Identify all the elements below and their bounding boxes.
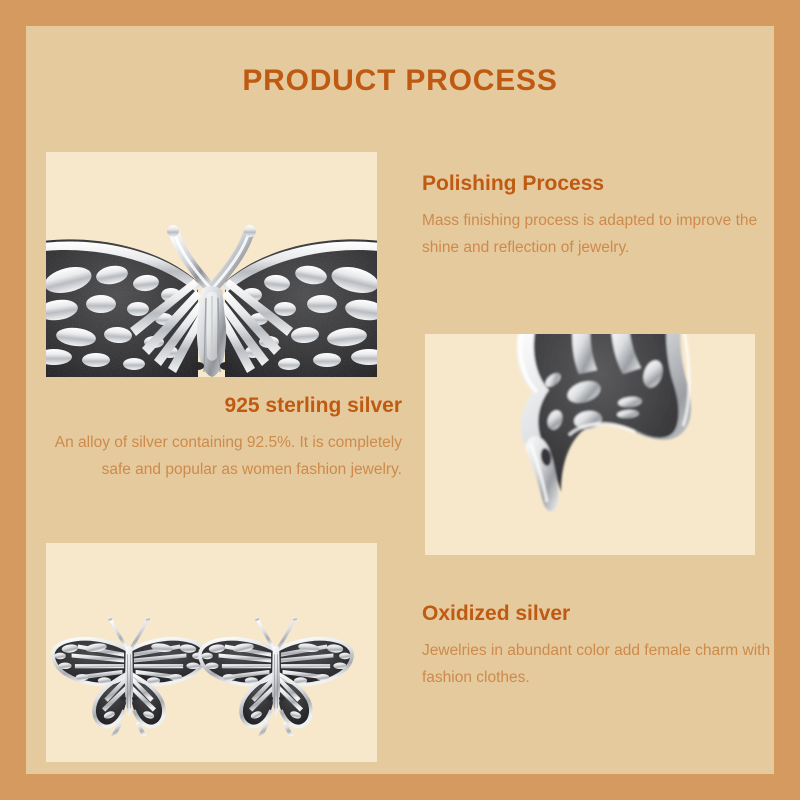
photo-butterfly-earring-pair — [46, 543, 377, 762]
section-sterling-heading-rest: sterling silver — [260, 394, 402, 417]
section-polishing: Polishing Process Mass finishing process… — [422, 172, 778, 261]
section-sterling-silver: 925 sterling silver An alloy of silver c… — [46, 394, 402, 483]
section-sterling-heading: 925 sterling silver — [46, 394, 402, 418]
section-polishing-body: Mass finishing process is adapted to imp… — [422, 208, 778, 261]
section-sterling-body: An alloy of silver containing 92.5%. It … — [46, 430, 402, 483]
butterfly-wing-macro-image — [46, 152, 377, 377]
butterfly-earring-pair-image — [46, 543, 377, 762]
section-oxidized-silver: Oxidized silver Jewelries in abundant co… — [422, 602, 778, 691]
butterfly-wingtip-macro-image — [425, 334, 755, 555]
section-oxidized-heading: Oxidized silver — [422, 602, 778, 626]
section-sterling-heading-number: 925 — [225, 394, 260, 417]
section-polishing-heading: Polishing Process — [422, 172, 778, 196]
photo-butterfly-wing-macro — [46, 152, 377, 377]
section-oxidized-body: Jewelries in abundant color add female c… — [422, 638, 778, 691]
infographic-inner-area: PRODUCT PROCESS — [26, 26, 774, 774]
page-title: PRODUCT PROCESS — [26, 64, 774, 98]
photo-butterfly-wingtip-macro — [425, 334, 755, 555]
product-process-infographic: PRODUCT PROCESS — [0, 0, 800, 800]
